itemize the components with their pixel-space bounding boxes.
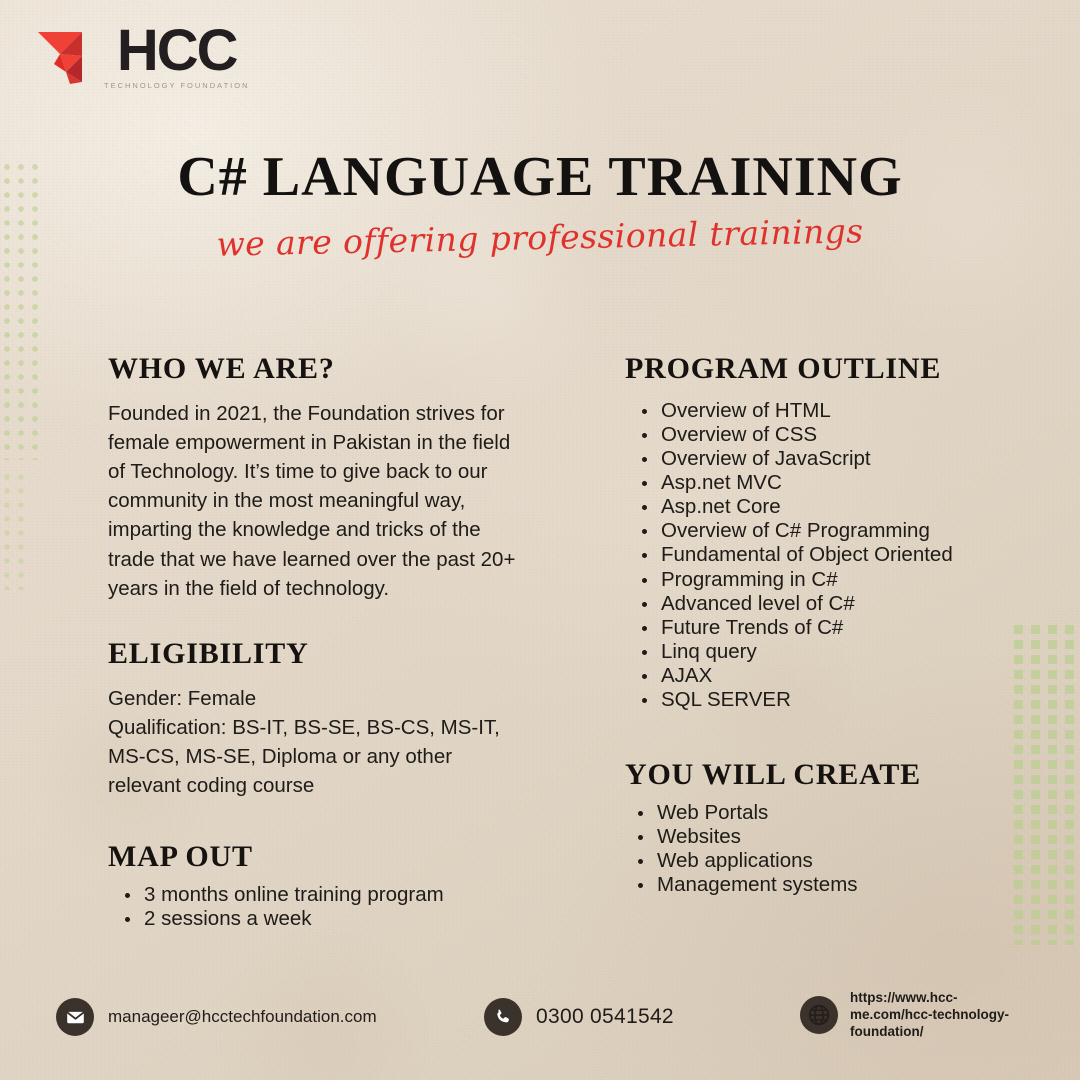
- contact-website[interactable]: https://www.hcc-me.com/hcc-technology-fo…: [800, 990, 1035, 1041]
- eligibility-heading: ELIGIBILITY: [108, 637, 518, 670]
- list-item: Websites: [655, 825, 1025, 849]
- contact-email[interactable]: manageer@hcctechfoundation.com: [56, 998, 377, 1036]
- list-item: Overview of C# Programming: [659, 519, 1025, 543]
- poster-canvas: HCC TECHNOLOGY FOUNDATION C# LANGUAGE TR…: [0, 0, 1080, 1080]
- program-outline-heading: PROGRAM OUTLINE: [625, 352, 1025, 385]
- phone-icon: [484, 998, 522, 1036]
- left-column: WHO WE ARE? Founded in 2021, the Foundat…: [108, 352, 518, 931]
- who-we-are-body: Founded in 2021, the Foundation strives …: [108, 399, 518, 603]
- list-item: Future Trends of C#: [659, 616, 1025, 640]
- list-item: AJAX: [659, 664, 1025, 688]
- brand-name: HCC: [117, 24, 237, 77]
- list-item: Fundamental of Object Oriented: [659, 543, 1025, 567]
- list-item: Overview of HTML: [659, 399, 1025, 423]
- list-item: Overview of CSS: [659, 423, 1025, 447]
- list-item: Management systems: [655, 873, 1025, 897]
- eligibility-body: Gender: Female Qualification: BS-IT, BS-…: [108, 684, 518, 800]
- map-out-heading: MAP OUT: [108, 840, 518, 873]
- envelope-icon: [56, 998, 94, 1036]
- list-item: Overview of JavaScript: [659, 447, 1025, 471]
- list-item: SQL SERVER: [659, 688, 1025, 712]
- who-we-are-heading: WHO WE ARE?: [108, 352, 518, 385]
- email-text: manageer@hcctechfoundation.com: [108, 1007, 377, 1027]
- you-will-create-heading: YOU WILL CREATE: [625, 758, 1025, 791]
- globe-icon: [800, 996, 838, 1034]
- website-text: https://www.hcc-me.com/hcc-technology-fo…: [850, 990, 1035, 1041]
- contact-phone[interactable]: 0300 0541542: [484, 998, 674, 1036]
- list-item: Web applications: [655, 849, 1025, 873]
- list-item: Linq query: [659, 640, 1025, 664]
- list-item: Programming in C#: [659, 568, 1025, 592]
- list-item: Advanced level of C#: [659, 592, 1025, 616]
- page-title: C# LANGUAGE TRAINING: [0, 148, 1080, 207]
- list-item: Asp.net MVC: [659, 471, 1025, 495]
- list-item: Asp.net Core: [659, 495, 1025, 519]
- brand-wordmark: HCC TECHNOLOGY FOUNDATION: [104, 24, 249, 90]
- brand-logo: HCC TECHNOLOGY FOUNDATION: [36, 24, 249, 90]
- right-column: PROGRAM OUTLINE Overview of HTML Overvie…: [625, 352, 1025, 897]
- hcc-arrow-mark-icon: [36, 26, 98, 88]
- map-out-list: 3 months online training program 2 sessi…: [108, 883, 518, 931]
- program-outline-list: Overview of HTML Overview of CSS Overvie…: [625, 399, 1025, 712]
- you-will-create-list: Web Portals Websites Web applications Ma…: [625, 801, 1025, 897]
- brand-tagline: TECHNOLOGY FOUNDATION: [104, 81, 249, 90]
- decorative-dot-grid-left-lower: [0, 470, 30, 590]
- contact-footer: manageer@hcctechfoundation.com 0300 0541…: [0, 984, 1080, 1080]
- page-subtitle: we are offering professional trainings: [0, 209, 1080, 265]
- list-item: 2 sessions a week: [142, 907, 518, 931]
- phone-text: 0300 0541542: [536, 1005, 674, 1029]
- list-item: Web Portals: [655, 801, 1025, 825]
- title-block: C# LANGUAGE TRAINING we are offering pro…: [0, 148, 1080, 254]
- list-item: 3 months online training program: [142, 883, 518, 907]
